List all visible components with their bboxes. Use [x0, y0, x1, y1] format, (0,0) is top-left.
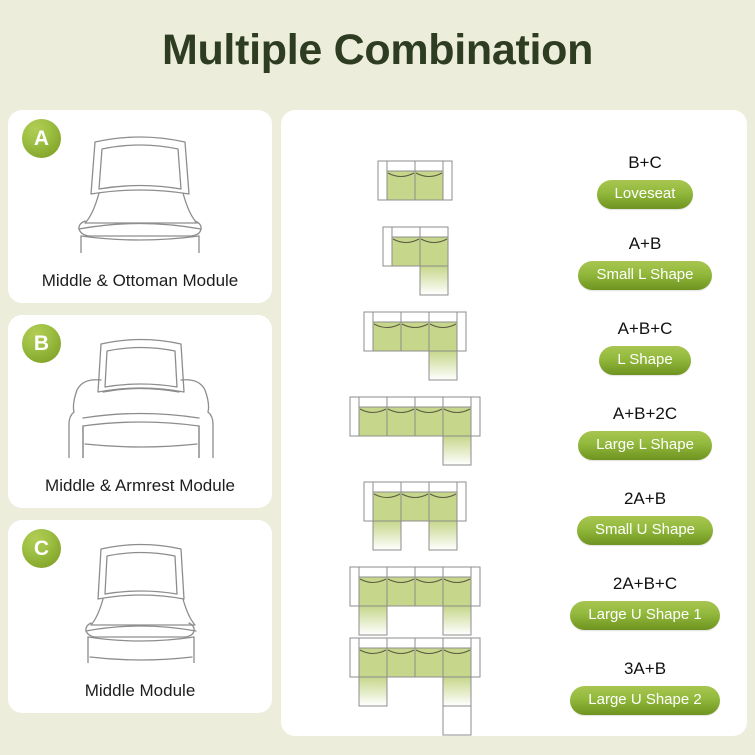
combination-list: B+CLoveseatA+BSmall L ShapeA+B+CL ShapeA… — [281, 110, 747, 736]
module-label-c: Middle Module — [8, 681, 272, 701]
combination-row[interactable]: A+BSmall L Shape — [281, 217, 747, 307]
combination-name-pill[interactable]: Small U Shape — [577, 516, 713, 545]
combination-row[interactable]: 3A+BLarge U Shape 2 — [281, 642, 747, 732]
infographic-page: Multiple Combination A — [0, 0, 755, 755]
combination-text: 2A+B+CLarge U Shape 1 — [549, 574, 747, 630]
combination-code: 3A+B — [549, 659, 741, 679]
sofa-layout-diagram — [281, 395, 549, 469]
combination-code: A+B — [549, 234, 741, 254]
combination-code: 2A+B+C — [549, 574, 741, 594]
combination-row[interactable]: A+B+CL Shape — [281, 302, 747, 392]
combination-name-pill[interactable]: Large L Shape — [578, 431, 712, 460]
combination-text: 3A+BLarge U Shape 2 — [549, 659, 747, 715]
combination-row[interactable]: 2A+BSmall U Shape — [281, 472, 747, 562]
sofa-layout-diagram — [281, 565, 549, 639]
sofa-middle-armrest-icon — [8, 329, 272, 459]
combination-text: B+CLoveseat — [549, 153, 747, 209]
combination-name-pill[interactable]: Large U Shape 2 — [570, 686, 719, 715]
page-title: Multiple Combination — [0, 22, 755, 78]
combination-code: 2A+B — [549, 489, 741, 509]
module-label-a: Middle & Ottoman Module — [8, 271, 272, 291]
combination-text: A+B+CL Shape — [549, 319, 747, 375]
sofa-middle-ottoman-icon — [8, 124, 272, 254]
combination-panel: B+CLoveseatA+BSmall L ShapeA+B+CL ShapeA… — [281, 110, 747, 736]
combination-code: A+B+C — [549, 319, 741, 339]
combination-text: A+BSmall L Shape — [549, 234, 747, 290]
sofa-layout-diagram — [281, 480, 549, 554]
module-card-a[interactable]: A Middle & — [8, 110, 272, 303]
module-label-b: Middle & Armrest Module — [8, 476, 272, 496]
module-card-b[interactable]: B — [8, 315, 272, 508]
combination-name-pill[interactable]: Loveseat — [597, 180, 694, 209]
combination-text: 2A+BSmall U Shape — [549, 489, 747, 545]
combination-row[interactable]: A+B+2CLarge L Shape — [281, 387, 747, 477]
sofa-layout-diagram — [281, 310, 549, 384]
sofa-layout-diagram — [281, 159, 549, 204]
sofa-layout-diagram — [281, 636, 549, 739]
combination-row[interactable]: B+CLoveseat — [281, 136, 747, 226]
combination-name-pill[interactable]: Large U Shape 1 — [570, 601, 719, 630]
combination-code: B+C — [549, 153, 741, 173]
combination-text: A+B+2CLarge L Shape — [549, 404, 747, 460]
module-card-c[interactable]: C Middle M — [8, 520, 272, 713]
sofa-middle-icon — [8, 534, 272, 664]
combination-name-pill[interactable]: L Shape — [599, 346, 690, 375]
sofa-layout-diagram — [281, 225, 549, 299]
combination-name-pill[interactable]: Small L Shape — [578, 261, 711, 290]
combination-row[interactable]: 2A+B+CLarge U Shape 1 — [281, 557, 747, 647]
combination-code: A+B+2C — [549, 404, 741, 424]
module-list: A Middle & — [8, 110, 272, 725]
